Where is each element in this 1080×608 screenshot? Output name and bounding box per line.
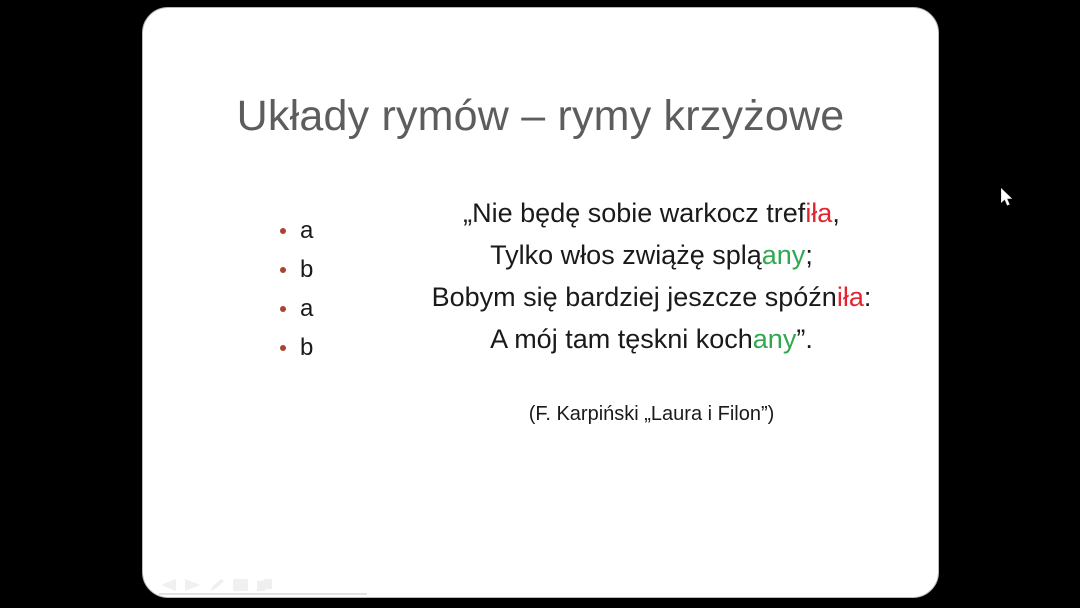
- rhyme-scheme-label: b: [300, 256, 313, 283]
- pen-tool-icon[interactable]: [209, 579, 224, 591]
- poem-attribution: (F. Karpiński „Laura i Filon”): [393, 403, 910, 426]
- poem-line: A mój tam tęskni kochany”.: [393, 318, 910, 360]
- letterbox-left: [0, 0, 137, 608]
- poem-line-text: Tylko włos zwiążę splą: [490, 240, 762, 270]
- list-item: b: [278, 250, 313, 289]
- presenter-toolbar[interactable]: [161, 579, 272, 591]
- slide-title: Układy rymów – rymy krzyżowe: [143, 93, 938, 140]
- poem-line-text: „Nie będę sobie warkocz tref: [463, 198, 805, 228]
- rhyme-scheme-list: a b a b: [278, 211, 313, 367]
- poem-line: Bobym się bardziej jeszcze spóźniła:: [393, 276, 910, 318]
- list-item: a: [278, 289, 313, 328]
- poem-line-punct: ;: [805, 240, 813, 270]
- poem-line: „Nie będę sobie warkocz trefiła,: [393, 192, 910, 234]
- bullet-dot-icon: [280, 228, 286, 234]
- rhyme-highlight-b: any: [753, 324, 797, 354]
- bullet-dot-icon: [280, 345, 286, 351]
- rhyme-scheme-label: a: [300, 295, 313, 322]
- all-slides-icon[interactable]: [257, 579, 272, 591]
- letterbox-right: [940, 0, 1080, 608]
- bullet-dot-icon: [280, 306, 286, 312]
- list-item: b: [278, 328, 313, 367]
- previous-slide-icon[interactable]: [161, 579, 176, 591]
- list-item: a: [278, 211, 313, 250]
- rhyme-scheme-label: a: [300, 217, 313, 244]
- presentation-screen: Układy rymów – rymy krzyżowe a b a b „Ni…: [0, 0, 1080, 608]
- rhyme-highlight-a: iła: [837, 282, 864, 312]
- rhyme-highlight-a: iła: [805, 198, 832, 228]
- poem-line: Tylko włos zwiążę spląany;: [393, 234, 910, 276]
- presenter-toolbar-underline: [159, 593, 367, 595]
- slide-canvas[interactable]: Układy rymów – rymy krzyżowe a b a b „Ni…: [142, 7, 939, 598]
- bullet-dot-icon: [280, 267, 286, 273]
- poem-line-text: Bobym się bardziej jeszcze spóźn: [432, 282, 837, 312]
- slide-menu-icon[interactable]: [233, 579, 248, 591]
- rhyme-highlight-b: any: [762, 240, 806, 270]
- poem-line-punct: ”.: [796, 324, 813, 354]
- mouse-cursor: [1001, 188, 1015, 208]
- poem-block: „Nie będę sobie warkocz trefiła, Tylko w…: [393, 192, 910, 360]
- poem-line-punct: :: [864, 282, 872, 312]
- next-slide-icon[interactable]: [185, 579, 200, 591]
- poem-line-text: A mój tam tęskni koch: [490, 324, 753, 354]
- rhyme-scheme-label: b: [300, 334, 313, 361]
- poem-line-punct: ,: [832, 198, 840, 228]
